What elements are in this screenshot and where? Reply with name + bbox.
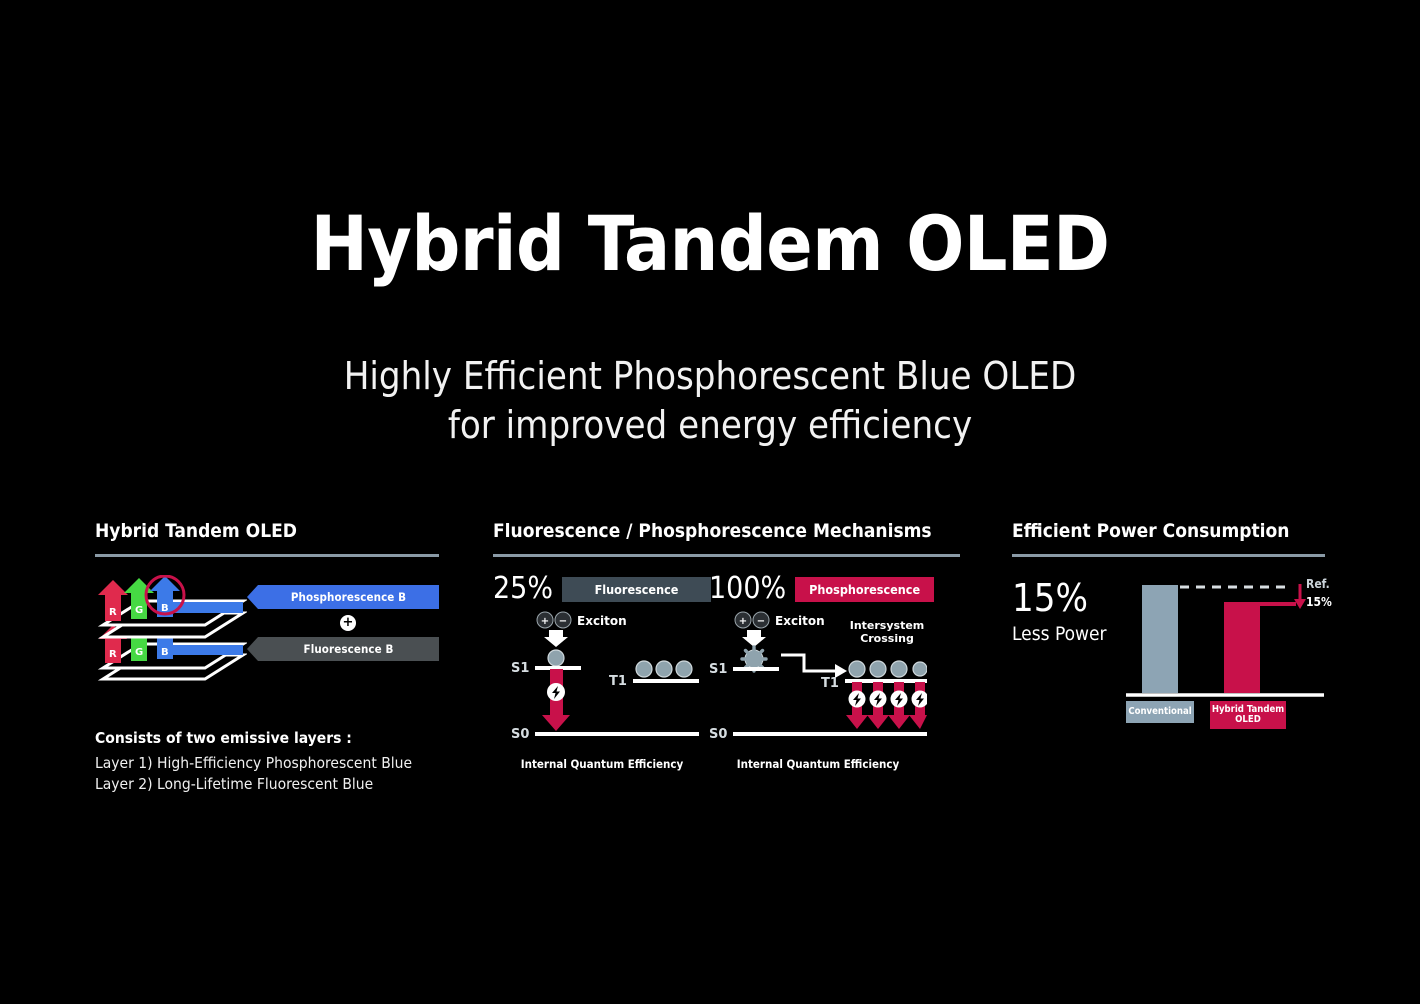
svg-text:S0: S0 <box>709 727 727 742</box>
svg-text:R: R <box>109 607 117 618</box>
ref-percent: 15% <box>1306 595 1332 610</box>
panel-left-heading: Hybrid Tandem OLED <box>95 520 439 542</box>
power-stat-percent: 15% <box>1012 579 1107 617</box>
bar-hybrid-tandem <box>1224 602 1260 693</box>
callout-arrow-icon <box>247 637 258 661</box>
power-bar-chart: Conventional Hybrid Tandem OLED Ref. 15% <box>1124 575 1324 709</box>
svg-text:S1: S1 <box>511 661 529 676</box>
isc-label-line-1: Intersystem <box>850 619 925 632</box>
svg-text:+: + <box>739 616 747 627</box>
callout-fluorescence-b-label: Fluorescence B <box>258 637 439 661</box>
title-block: Hybrid Tandem OLED <box>0 206 1420 282</box>
phosphorescence-emission-arrows <box>846 682 927 729</box>
svg-text:S1: S1 <box>709 662 727 677</box>
note-line-layer-1: Layer 1) High-Efficiency Phosphorescent … <box>95 753 439 774</box>
svg-text:Exciton: Exciton <box>775 614 825 628</box>
svg-text:G: G <box>135 605 143 616</box>
callout-fluorescence-b: Fluorescence B <box>247 637 439 661</box>
page-title: Hybrid Tandem OLED <box>0 206 1420 282</box>
mechanism-phosphorescence: 100% Phosphorescence + − Exciton <box>709 575 927 771</box>
panel-hybrid-tandem-oled: Hybrid Tandem OLED R G B <box>95 520 439 796</box>
svg-text:Exciton: Exciton <box>577 614 627 628</box>
fluorescence-badge: Fluorescence <box>562 577 711 602</box>
panel-right-heading: Efficient Power Consumption <box>1012 520 1325 542</box>
phosphorescence-caption: Internal Quantum Efficiency <box>709 757 927 771</box>
panel-power-consumption: Efficient Power Consumption 15% Less Pow… <box>1012 520 1325 735</box>
bar-label-hybrid-tandem: Hybrid Tandem OLED <box>1210 701 1286 729</box>
power-bar-chart-svg <box>1124 575 1324 705</box>
callout-phosphorescence-b: Phosphorescence B <box>247 585 439 609</box>
svg-text:G: G <box>135 647 143 658</box>
bar-conventional <box>1142 585 1178 693</box>
svg-text:−: − <box>559 616 567 627</box>
oled-stack-diagram: R G B R G B Phosphorescence <box>95 575 439 695</box>
panel-left-divider <box>95 554 439 557</box>
svg-text:−: − <box>757 616 765 627</box>
subtitle-line-2: for improved energy efficiency <box>0 401 1420 450</box>
svg-text:R: R <box>109 649 117 660</box>
callout-arrow-icon <box>247 585 258 609</box>
svg-text:S0: S0 <box>511 727 529 742</box>
plus-icon: + <box>340 615 356 631</box>
svg-text:B: B <box>161 647 169 658</box>
fluorescence-caption: Internal Quantum Efficiency <box>493 757 711 771</box>
layer-stack-svg: R G B R G B <box>95 575 247 693</box>
phosphorescence-percent: 100% <box>709 574 786 604</box>
panel-right-divider <box>1012 554 1325 557</box>
fluorescence-percent: 25% <box>493 574 553 604</box>
power-stat-label: Less Power <box>1012 623 1107 645</box>
delta-connector <box>1260 602 1296 606</box>
panel-mechanisms: Fluorescence / Phosphorescence Mechanism… <box>493 520 960 790</box>
svg-text:T1: T1 <box>609 674 627 689</box>
svg-text:T1: T1 <box>821 676 839 691</box>
fluorescence-jablonski-svg: + − Exciton S1 T1 <box>493 611 711 751</box>
phosphorescence-jablonski-svg: + − Exciton <box>709 611 927 751</box>
emissive-layers-note: Consists of two emissive layers : Layer … <box>95 729 439 796</box>
panel-middle-heading: Fluorescence / Phosphorescence Mechanism… <box>493 520 960 542</box>
callout-phosphorescence-b-label: Phosphorescence B <box>258 585 439 609</box>
panel-middle-divider <box>493 554 960 557</box>
mechanism-fluorescence: 25% Fluorescence + − Exciton S1 <box>493 575 711 771</box>
bar-label-hybrid-line-2: OLED <box>1235 715 1261 725</box>
bar-label-conventional: Conventional <box>1126 701 1194 723</box>
callout-group: Phosphorescence B + Fluorescence B <box>247 585 439 661</box>
note-heading: Consists of two emissive layers : <box>95 729 439 747</box>
isc-label-line-2: Crossing <box>860 632 914 645</box>
svg-text:+: + <box>541 616 549 627</box>
note-line-layer-2: Layer 2) Long-Lifetime Fluorescent Blue <box>95 774 439 795</box>
subtitle-line-1: Highly Efficient Phosphorescent Blue OLE… <box>0 352 1420 401</box>
phosphorescence-badge: Phosphorescence <box>795 577 934 602</box>
subtitle-block: Highly Efficient Phosphorescent Blue OLE… <box>0 352 1420 451</box>
ref-label: Ref. <box>1306 577 1330 592</box>
power-stat: 15% Less Power <box>1012 579 1107 645</box>
